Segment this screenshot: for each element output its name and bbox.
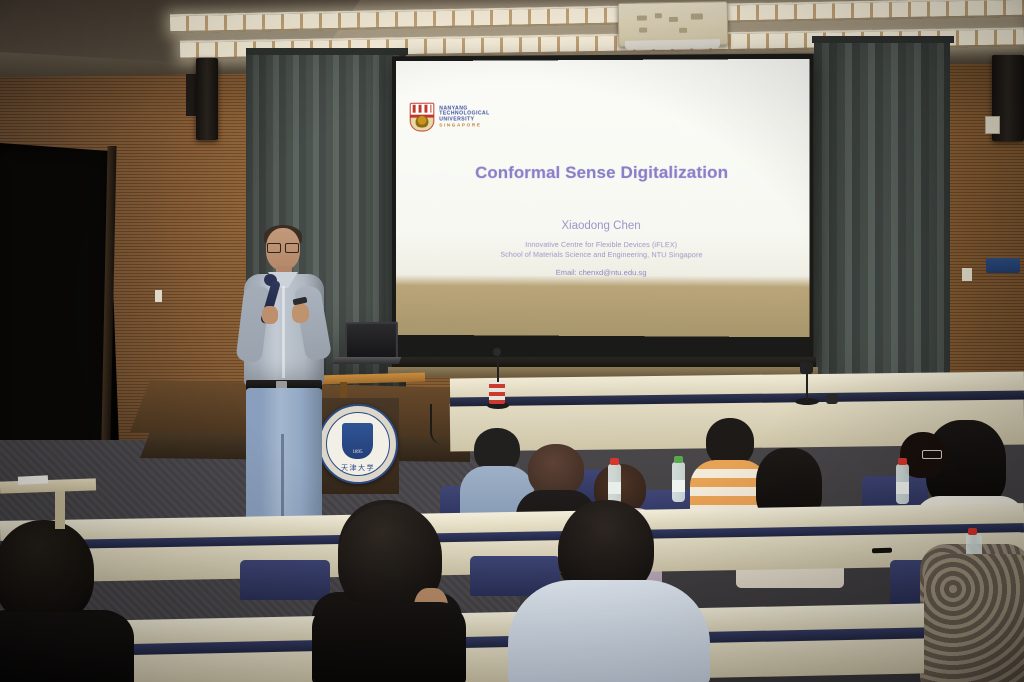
curtain-rod-right: [812, 36, 954, 43]
ntu-crest-icon: [410, 103, 435, 132]
slide-title: Conformal Sense Digitalization: [396, 163, 810, 183]
bottle-label: [608, 482, 621, 494]
slide-affiliation-line-2: School of Materials Science and Engineer…: [396, 250, 810, 260]
glasses-icon: [922, 450, 942, 459]
attendee-body: [312, 602, 466, 682]
water-bottle[interactable]: [896, 464, 909, 504]
presenter-laptop-base[interactable]: [333, 357, 401, 364]
table-microphone-left-capsule: [493, 348, 501, 356]
bottle-label: [896, 482, 909, 494]
wall-speaker-left-icon: [196, 58, 218, 140]
slide-affiliation-line-1: Innovative Centre for Flexible Devices (…: [396, 240, 810, 250]
attendee-head: [0, 520, 94, 624]
light-switch[interactable]: [155, 290, 162, 302]
projector-mount-plate: [625, 39, 720, 50]
list-item: [0, 520, 140, 682]
emblem-shield: [342, 423, 373, 459]
slide-email: Email: chenxd@ntu.edu.sg: [396, 267, 810, 277]
wall-outlet-right: [962, 268, 972, 281]
presenter-jeans: [246, 388, 322, 530]
papers-on-table[interactable]: [18, 475, 48, 485]
presentation-slide: NANYANG TECHNOLOGICAL UNIVERSITY SINGAPO…: [396, 59, 810, 337]
bottle-cap: [674, 456, 683, 463]
water-bottle[interactable]: [608, 464, 621, 504]
bottle-label: [672, 480, 685, 492]
bottle-cap: [898, 458, 907, 465]
desk-device: [826, 394, 838, 404]
glasses-icon: [267, 243, 299, 251]
attendee-head: [528, 444, 584, 496]
attendee-body: [508, 580, 710, 682]
lecture-hall-photo: NANYANG TECHNOLOGICAL UNIVERSITY SINGAPO…: [0, 0, 1024, 682]
table-microphone-left-body: [489, 380, 505, 404]
projection-screen: NANYANG TECHNOLOGICAL UNIVERSITY SINGAPO…: [396, 59, 810, 337]
attendee-body: [0, 612, 134, 682]
wall-sign-plate: [986, 258, 1020, 273]
presenter-left-hand: [262, 306, 278, 324]
wall-plate-right: [985, 116, 1000, 134]
water-bottle[interactable]: [672, 462, 685, 502]
side-table-leg: [55, 489, 65, 529]
presenter-shirt-placket: [282, 286, 285, 378]
curtain-rod-left: [246, 48, 408, 55]
list-item: [318, 496, 454, 682]
ntu-logo-text: NANYANG TECHNOLOGICAL UNIVERSITY SINGAPO…: [439, 106, 489, 128]
ntu-logo-line-4: SINGAPORE: [439, 123, 489, 128]
slide-author: Xiaodong Chen: [396, 220, 810, 232]
pen-on-desk[interactable]: [872, 548, 892, 554]
seat[interactable]: [240, 560, 330, 600]
table-microphone-right-capsule: [800, 362, 813, 374]
bottle-cap: [610, 458, 619, 465]
ntu-logo: NANYANG TECHNOLOGICAL UNIVERSITY SINGAPO…: [410, 102, 490, 131]
attendee-body: [924, 554, 1024, 682]
presenter-right-hand: [292, 304, 309, 323]
table-microphone-left-stem: [497, 352, 499, 382]
list-item: [918, 520, 1024, 682]
list-item: [508, 500, 708, 682]
